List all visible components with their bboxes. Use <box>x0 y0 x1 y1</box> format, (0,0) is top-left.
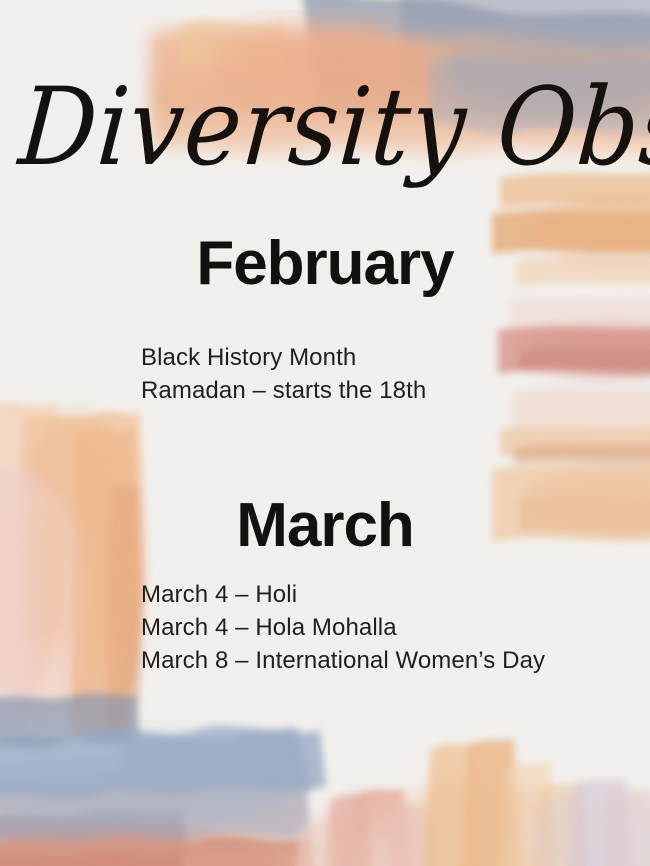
event-item: March 4 – Hola Mohalla <box>141 611 641 644</box>
event-item: Black History Month <box>141 341 641 374</box>
event-item: Ramadan – starts the 18th <box>141 374 641 407</box>
page-title: Diversity Observances <box>14 54 645 200</box>
event-item: March 8 – International Women’s Day <box>141 644 641 677</box>
month-heading-march: March <box>0 495 650 557</box>
event-list-march: March 4 – Holi March 4 – Hola Mohalla Ma… <box>141 578 641 677</box>
event-item: March 4 – Holi <box>141 578 641 611</box>
poster-canvas: Diversity Observances February Black His… <box>0 0 650 866</box>
month-heading-february: February <box>0 233 650 295</box>
event-list-february: Black History Month Ramadan – starts the… <box>141 341 641 407</box>
